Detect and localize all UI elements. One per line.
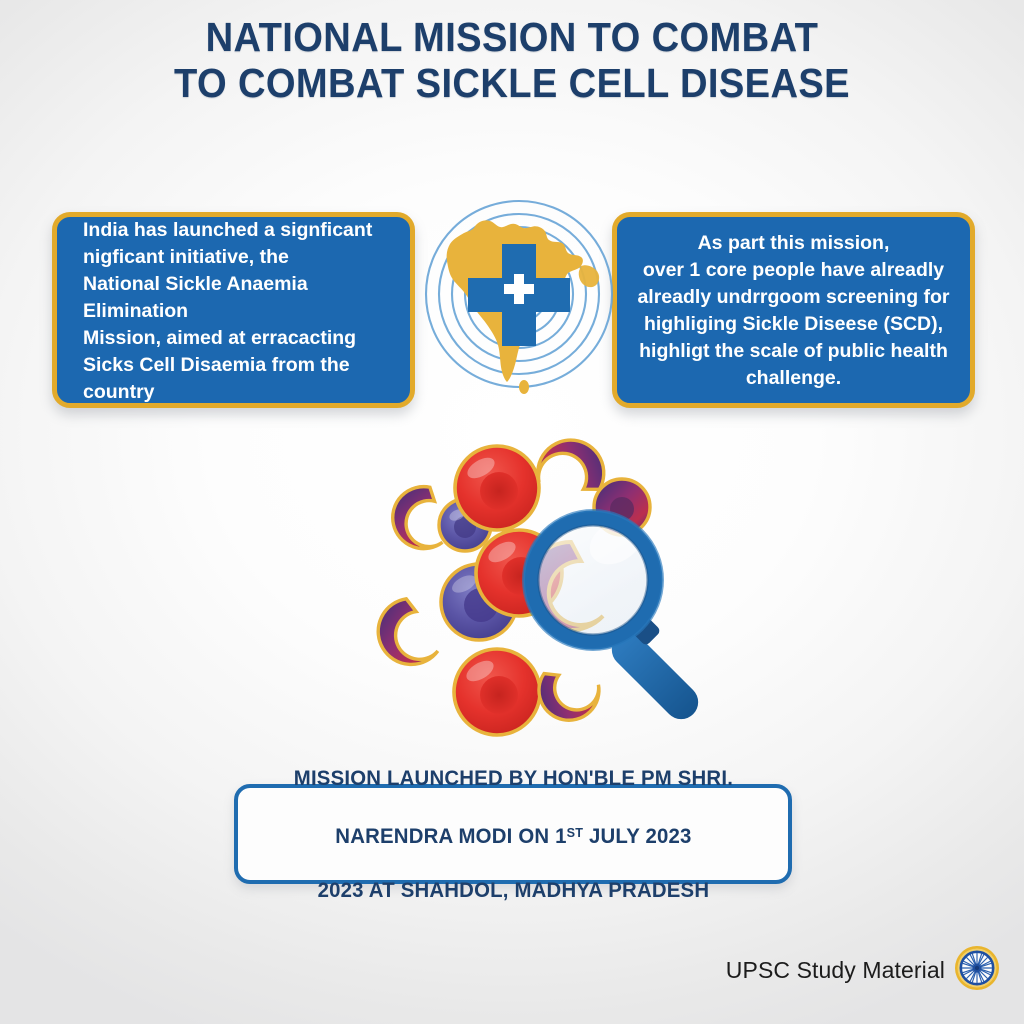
- red-blood-cell: [454, 649, 540, 735]
- caption-line-2-post: JULY 2023: [583, 825, 691, 848]
- sickle-cell-illustration: [366, 430, 726, 742]
- info-box-left: India has launched a signficant nigfican…: [52, 212, 415, 408]
- caption-ordinal-suffix: ST: [566, 825, 583, 840]
- infographic-poster: NATIONAL MISSION TO COMBAT TO COMBAT SIC…: [0, 0, 1024, 1024]
- ashoka-chakra-icon: [954, 945, 1000, 996]
- info-box-right: As part this mission, over 1 core people…: [612, 212, 975, 408]
- watermark-label: UPSC Study Material: [726, 957, 945, 984]
- india-map-emblem: [414, 188, 624, 400]
- caption-line-1: MISSION LAUNCHED BY HON'BLE PM SHRI.: [293, 765, 732, 792]
- info-box-left-text: India has launched a signficant nigfican…: [71, 217, 396, 406]
- watermark: UPSC Study Material: [726, 945, 1000, 996]
- page-title: NATIONAL MISSION TO COMBAT TO COMBAT SIC…: [0, 14, 1024, 106]
- caption-line-3: 2023 AT SHAHDOL, MADHYA PRADESH: [293, 877, 732, 904]
- red-blood-cell: [455, 446, 539, 530]
- title-line-2: TO COMBAT SICKLE CELL DISEASE: [36, 60, 988, 106]
- info-box-right-text: As part this mission, over 1 core people…: [631, 230, 956, 392]
- caption-line-2-pre: NARENDRA MODI ON 1: [335, 825, 566, 848]
- caption-box: MISSION LAUNCHED BY HON'BLE PM SHRI. NAR…: [234, 784, 792, 884]
- title-line-1: NATIONAL MISSION TO COMBAT: [36, 14, 988, 60]
- sickle-cell: [374, 595, 439, 668]
- sickle-cell: [527, 655, 606, 732]
- caption-line-2: NARENDRA MODI ON 1ST JULY 2023: [293, 819, 732, 850]
- caption-text: MISSION LAUNCHED BY HON'BLE PM SHRI. NAR…: [293, 738, 732, 931]
